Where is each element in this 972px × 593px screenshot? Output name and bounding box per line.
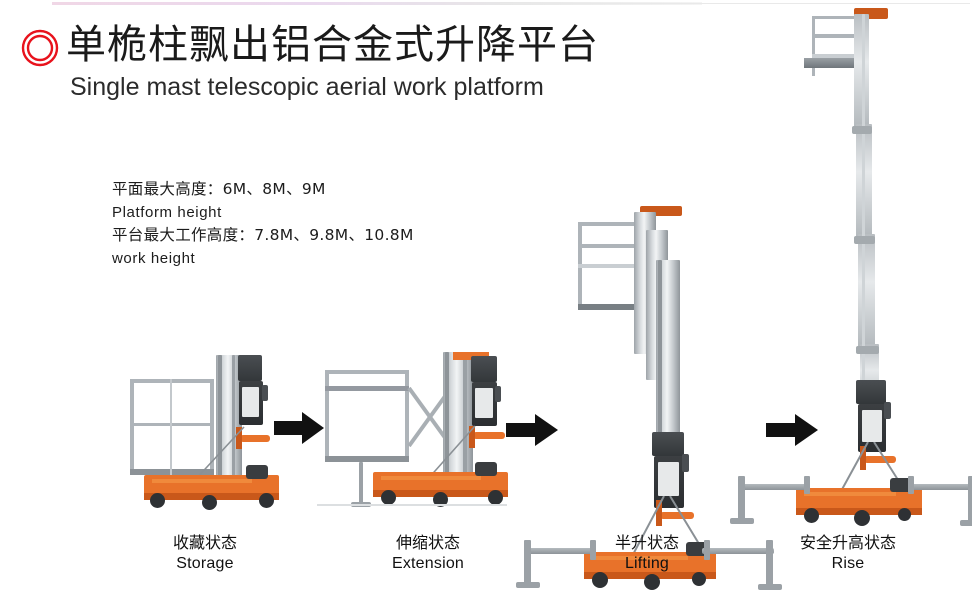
machine-rise-mast-s3 <box>858 234 875 354</box>
caption-rise: 安全升高状态 Rise <box>778 532 918 574</box>
caption-extension-cn: 伸缩状态 <box>363 532 493 553</box>
machine-storage-control-panel <box>242 387 259 417</box>
caption-storage-cn: 收藏状态 <box>140 532 270 553</box>
machine-extension-control-panel <box>475 388 493 418</box>
machine-rise-outrigger-right <box>912 484 972 490</box>
arrow-storage-to-extension <box>274 410 324 446</box>
caption-lifting: 半升状态 Lifting <box>582 532 712 574</box>
arrow-extension-to-lifting <box>506 412 558 448</box>
machine-rise-outrigger-left <box>740 484 810 490</box>
caption-rise-cn: 安全升高状态 <box>778 532 918 553</box>
machine-storage <box>128 355 288 515</box>
caption-rise-en: Rise <box>778 553 918 574</box>
caption-lifting-cn: 半升状态 <box>582 532 712 553</box>
machine-extension-motor <box>471 356 497 382</box>
machine-extension-basket <box>325 370 409 462</box>
slide-canvas: 单桅柱飘出铝合金式升降平台 Single mast telescopic aer… <box>0 0 972 593</box>
caption-storage: 收藏状态 Storage <box>140 532 270 574</box>
machine-lifting <box>560 200 760 520</box>
caption-extension: 伸缩状态 Extension <box>363 532 493 574</box>
machine-rise-motor <box>856 380 886 404</box>
caption-storage-en: Storage <box>140 553 270 574</box>
caption-lifting-en: Lifting <box>582 553 712 574</box>
caption-extension-en: Extension <box>363 553 493 574</box>
machine-lifting-motor <box>652 432 684 456</box>
machine-lifting-control-panel <box>658 462 679 496</box>
machine-rise <box>790 6 970 516</box>
machine-illustration-stage <box>0 0 972 530</box>
machine-rise-control-panel <box>862 410 882 442</box>
machine-storage-motor <box>238 355 262 381</box>
stage-captions: 收藏状态 Storage 伸缩状态 Extension 半升状态 Lifting… <box>0 528 972 588</box>
machine-extension <box>325 352 500 517</box>
